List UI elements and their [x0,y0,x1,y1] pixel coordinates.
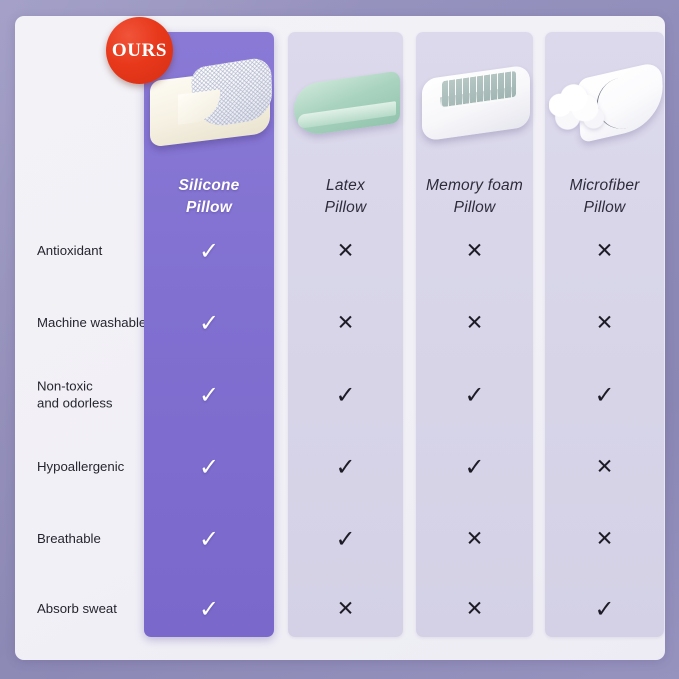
row-label: Absorb sweat [37,601,155,618]
cell-check-icon: ✓ [144,311,274,335]
cell-check-icon: ✓ [288,383,403,407]
product-name-microfiber: Microfiber Pillow [545,175,664,219]
product-column-silicone[interactable]: Silicone Pillow ✓✓✓✓✓✓ [144,32,274,637]
cell-check-icon: ✓ [144,455,274,479]
comparison-table: Silicone Pillow ✓✓✓✓✓✓ Latex Pillow ✕✕✓✓… [15,16,665,660]
cell-check-icon: ✓ [144,383,274,407]
row-label: Non-toxicand odorless [37,379,155,412]
product-name-line1: Memory foam [426,177,523,194]
product-column-latex[interactable]: Latex Pillow ✕✕✓✓✓✕ [288,32,403,637]
comparison-card: Silicone Pillow ✓✓✓✓✓✓ Latex Pillow ✕✕✓✓… [15,16,665,660]
cell-check-icon: ✓ [144,239,274,263]
cell-cross-icon: ✕ [416,529,533,550]
product-name-silicone: Silicone Pillow [144,175,274,219]
product-name-line2: Pillow [545,197,664,219]
row-label: Breathable [37,531,155,548]
cell-cross-icon: ✕ [545,529,664,550]
cell-check-icon: ✓ [288,455,403,479]
cell-cross-icon: ✕ [545,457,664,478]
microfiber-pillow-image [545,46,664,164]
row-label-line1: Machine washable [37,315,146,330]
cell-cross-icon: ✕ [288,599,403,620]
row-label-line1: Hypoallergenic [37,459,124,474]
product-column-microfiber[interactable]: Microfiber Pillow ✕✕✓✕✕✓ [545,32,664,637]
product-name-line2: Pillow [288,197,403,219]
product-name-line1: Silicone [178,177,239,194]
row-label-line1: Non-toxic [37,379,93,394]
cell-cross-icon: ✕ [416,599,533,620]
cell-check-icon: ✓ [545,383,664,407]
product-column-memory-foam[interactable]: Memory foam Pillow ✕✕✓✓✕✕ [416,32,533,637]
row-label: Hypoallergenic [37,459,155,476]
cell-check-icon: ✓ [288,527,403,551]
cell-cross-icon: ✕ [288,313,403,334]
product-name-line1: Microfiber [569,177,639,194]
cell-cross-icon: ✕ [416,241,533,262]
product-name-line1: Latex [326,177,365,194]
row-label-line1: Breathable [37,531,101,546]
ours-badge-label: OURS [112,40,167,62]
memory-foam-pillow-image [416,46,533,164]
row-label-line2: and odorless [37,395,155,412]
cell-cross-icon: ✕ [288,241,403,262]
row-label: Machine washable [37,315,155,332]
ours-badge: OURS [106,17,173,84]
latex-pillow-image [288,46,403,164]
cell-check-icon: ✓ [416,383,533,407]
cell-check-icon: ✓ [416,455,533,479]
row-label-line1: Antioxidant [37,243,102,258]
cell-check-icon: ✓ [144,597,274,621]
row-label-line1: Absorb sweat [37,601,117,616]
product-name-latex: Latex Pillow [288,175,403,219]
cell-cross-icon: ✕ [545,313,664,334]
product-name-memory-foam: Memory foam Pillow [416,175,533,219]
cell-check-icon: ✓ [144,527,274,551]
row-label: Antioxidant [37,243,155,260]
cell-check-icon: ✓ [545,597,664,621]
cell-cross-icon: ✕ [545,241,664,262]
cell-cross-icon: ✕ [416,313,533,334]
product-name-line2: Pillow [144,197,274,219]
product-name-line2: Pillow [416,197,533,219]
